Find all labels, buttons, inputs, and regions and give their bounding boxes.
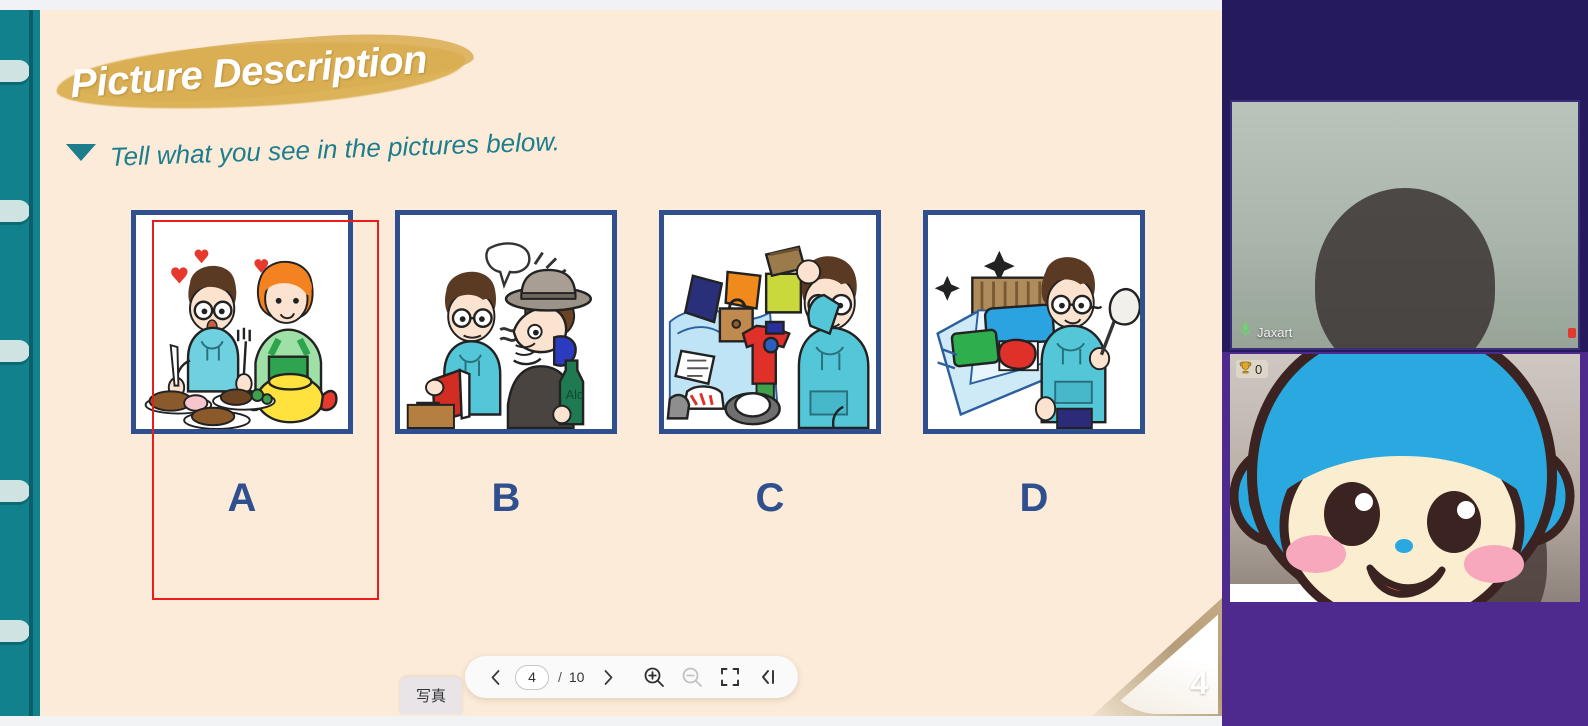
binding-ring [0, 60, 30, 82]
page-corner-number: 4 [1190, 665, 1208, 702]
teacher-name-row: Jaxart [1240, 322, 1292, 342]
triangle-down-icon [66, 144, 96, 161]
picture-art-a [136, 215, 348, 429]
trophy-count: 0 [1255, 362, 1262, 377]
picture-option-b[interactable]: Alc B [374, 210, 638, 521]
slide-body: Picture Description Tell what you see in… [40, 10, 1222, 716]
instruction-text: Tell what you see in the pictures below. [110, 126, 561, 173]
picture-label-b: B [492, 476, 521, 521]
picture-label-c: C [756, 476, 785, 521]
svg-text:Alc: Alc [566, 388, 583, 402]
notebook-binding [0, 10, 40, 716]
picture-option-d[interactable]: D [902, 210, 1166, 521]
slide-toolbar: 4 / 10 [465, 656, 798, 698]
instruction-row: Tell what you see in the pictures below. [66, 134, 560, 165]
collapse-panel-icon[interactable] [750, 659, 786, 695]
page-curl: 4 [1092, 598, 1222, 716]
video-tile-teacher[interactable]: Jaxart [1230, 100, 1580, 350]
app-root: Picture Description Tell what you see in… [0, 0, 1588, 726]
slide-stage[interactable]: Picture Description Tell what you see in… [0, 10, 1222, 716]
picture-option-a[interactable]: A [110, 210, 374, 521]
picture-art-c [664, 215, 876, 429]
zoom-in-icon[interactable] [636, 659, 672, 695]
picture-frame-c[interactable] [659, 210, 881, 434]
picture-option-c[interactable]: C [638, 210, 902, 521]
next-page-button[interactable] [590, 659, 626, 695]
binding-ring [0, 620, 30, 642]
recording-indicator [1568, 328, 1576, 338]
picture-label-a: A [228, 476, 257, 521]
prev-page-button[interactable] [477, 659, 513, 695]
page-separator: / [558, 669, 562, 685]
picture-frame-d[interactable] [923, 210, 1145, 434]
trophy-icon [1239, 361, 1252, 377]
microphone-icon [1240, 322, 1251, 342]
picture-frame-a[interactable] [131, 210, 353, 434]
picture-label-d: D [1020, 476, 1049, 521]
zoom-out-icon[interactable] [674, 659, 710, 695]
top-strip [0, 0, 1222, 10]
current-page-input[interactable]: 4 [515, 665, 549, 690]
slide-title: Picture Description [56, 36, 486, 122]
photo-tab-button[interactable]: 写真 [400, 677, 462, 714]
teacher-silhouette [1315, 188, 1495, 350]
picture-frame-b[interactable]: Alc [395, 210, 617, 434]
binding-ring [0, 200, 30, 222]
monkey-avatar-icon [1230, 354, 1580, 602]
picture-art-b: Alc [400, 215, 612, 429]
teacher-name: Jaxart [1257, 325, 1292, 340]
trophy-badge: 0 [1236, 360, 1268, 378]
picture-art-d [928, 215, 1140, 429]
binding-ring [0, 340, 30, 362]
video-tile-student[interactable]: 0 [1230, 354, 1580, 602]
picture-row: A [110, 210, 1166, 521]
total-pages: 10 [569, 669, 585, 685]
video-sidebar: Jaxart 0 [1222, 0, 1588, 726]
binding-ring [0, 480, 30, 502]
fullscreen-icon[interactable] [712, 659, 748, 695]
